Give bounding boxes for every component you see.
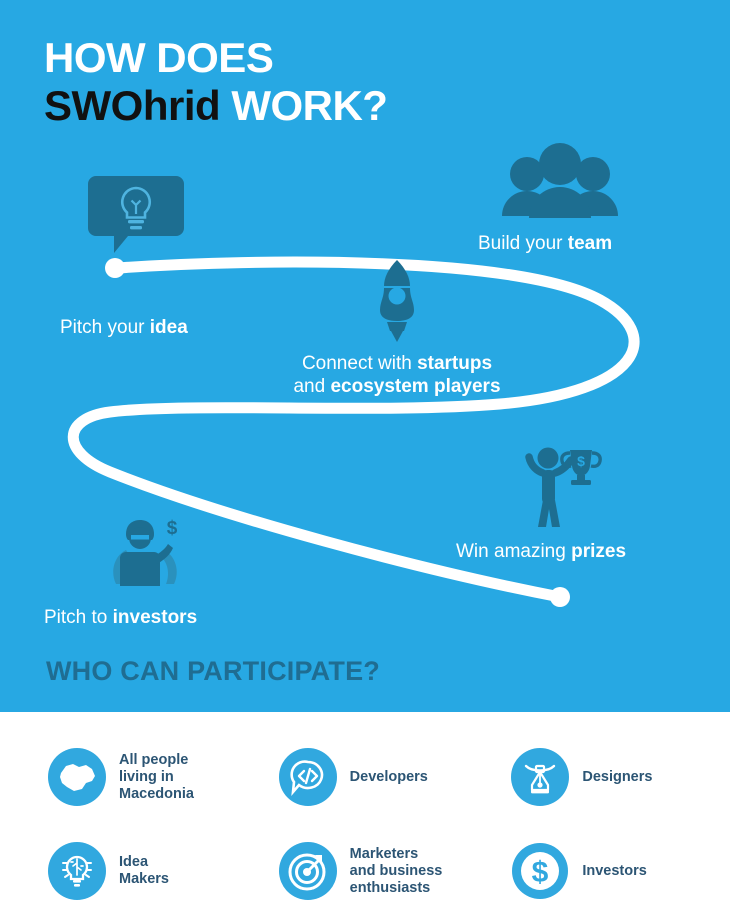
flow-step-investors: $ Pitch to investors (44, 518, 294, 629)
participant-idea-makers[interactable]: Idea Makers (0, 824, 267, 913)
svg-text:$: $ (532, 856, 549, 889)
flow-step-connect-label: Connect with startups and ecosystem play… (262, 352, 532, 398)
participant-label: Marketers and business enthusiasts (350, 846, 443, 897)
participant-marketers[interactable]: Marketers and business enthusiasts (267, 824, 498, 913)
participant-label: All people living in Macedonia (119, 752, 194, 803)
flow-step-investors-label: Pitch to investors (44, 606, 294, 629)
label-line1-plain: Connect with (302, 353, 417, 374)
participants-row-2: Idea Makers Marketers and busine (0, 824, 730, 913)
code-bubble-icon (279, 748, 337, 806)
svg-text:$: $ (577, 453, 585, 469)
hero-section: HOW DOES SWOhrid WORK? Pitch your idea (0, 0, 730, 712)
participant-label: Designers (582, 769, 652, 786)
pen-nib-icon (511, 748, 569, 806)
participant-investors[interactable]: $ Investors (497, 824, 730, 913)
label-plain: Win amazing (456, 541, 571, 562)
label-line-2: Makers (119, 871, 169, 887)
people-group-icon (500, 142, 620, 220)
participant-developers[interactable]: Developers (267, 730, 498, 824)
rocket-icon (366, 258, 428, 342)
flow-step-prizes-label: Win amazing prizes (456, 540, 696, 563)
svg-text:$: $ (167, 518, 178, 539)
infographic-page: HOW DOES SWOhrid WORK? Pitch your idea (0, 0, 730, 913)
participants-section: All people living in Macedonia Developer… (0, 712, 730, 913)
person-trophy-icon: $ (514, 442, 602, 528)
label-line2-bold: ecosystem players (330, 376, 500, 397)
label-line2-plain: and (293, 376, 330, 397)
angel-investor-icon: $ (102, 518, 188, 592)
label-bold: prizes (571, 541, 626, 562)
participant-label: Developers (350, 769, 428, 786)
label-line-2: living in (119, 769, 174, 785)
flow-step-idea: Pitch your idea (52, 172, 282, 339)
label-line-1: Idea (119, 854, 148, 870)
flow-step-team-label: Build your team (478, 232, 708, 255)
participant-label: Investors (582, 863, 646, 880)
target-arrow-icon (279, 842, 337, 900)
label-line-3: Macedonia (119, 786, 194, 802)
participant-label: Idea Makers (119, 854, 169, 888)
dollar-coin-icon: $ (511, 842, 569, 900)
label-plain: Build your (478, 233, 568, 254)
label-line-2: and business (350, 863, 443, 879)
participant-designers[interactable]: Designers (497, 730, 730, 824)
lightbulb-speech-bubble-icon (88, 172, 184, 254)
path-end-dot (550, 587, 570, 607)
flow-step-team: Build your team (478, 142, 708, 255)
brain-bulb-icon (48, 842, 106, 900)
label-line-1: All people (119, 752, 188, 768)
label-bold: investors (113, 607, 197, 628)
label-bold: team (568, 233, 612, 254)
macedonia-map-icon (48, 748, 106, 806)
participant-macedonia[interactable]: All people living in Macedonia (0, 730, 267, 824)
flow-step-idea-label: Pitch your idea (60, 316, 282, 339)
label-plain: Pitch your (60, 317, 150, 338)
label-bold: idea (150, 317, 188, 338)
label-line-1: Marketers (350, 846, 419, 862)
flow-step-connect: Connect with startups and ecosystem play… (262, 258, 532, 398)
label-plain: Pitch to (44, 607, 113, 628)
participants-row-1: All people living in Macedonia Developer… (0, 730, 730, 824)
label-line-3: enthusiasts (350, 880, 431, 896)
who-can-participate-heading: WHO CAN PARTICIPATE? (46, 656, 380, 687)
flow-step-prizes: $ Win amazing prizes (456, 442, 696, 563)
label-line1-bold: startups (417, 353, 492, 374)
